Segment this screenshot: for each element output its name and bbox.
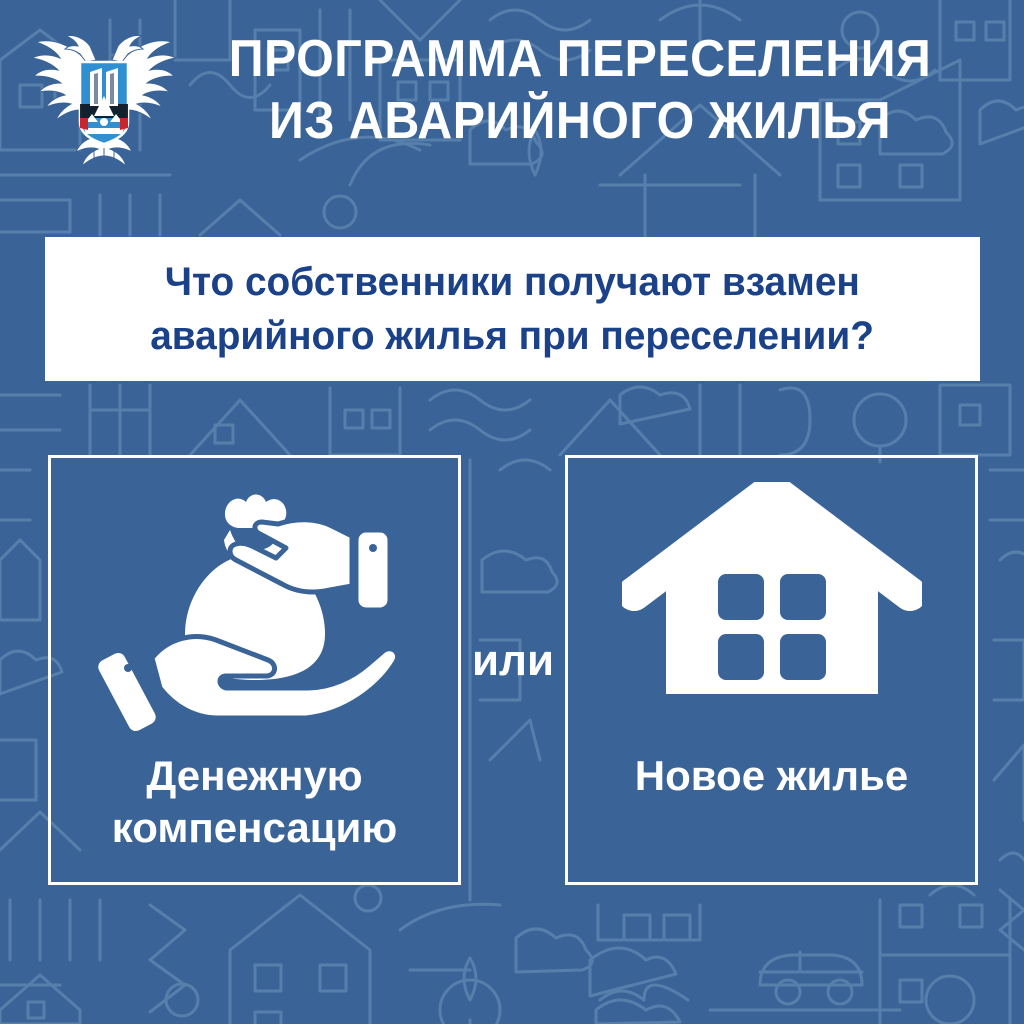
- infographic-poster: ПРОГРАММА ПЕРЕСЕЛЕНИЯ ИЗ АВАРИЙНОГО ЖИЛЬ…: [0, 0, 1024, 1024]
- hands-holding-money-bag-icon: [90, 482, 420, 732]
- option-label-left-line-2: компенсацию: [27, 802, 482, 854]
- question-line-2: аварийного жилья при переселении?: [151, 309, 875, 363]
- question-banner: Что собственники получают взамен аварийн…: [45, 237, 980, 381]
- option-label-left: Денежную компенсацию: [27, 750, 482, 854]
- option-label-left-line-1: Денежную: [27, 750, 482, 802]
- page-title-line-2: ИЗ АВАРИЙНОГО ЖИЛЬЯ: [208, 90, 952, 152]
- option-icon-wrap-right: [568, 472, 975, 742]
- option-card-monetary-compensation[interactable]: Денежную компенсацию: [48, 455, 461, 885]
- option-icon-wrap-left: [51, 472, 458, 742]
- option-label-right-line-1: Новое жилье: [544, 750, 999, 802]
- poster-header: ПРОГРАММА ПЕРЕСЕЛЕНИЯ ИЗ АВАРИЙНОГО ЖИЛЬ…: [0, 0, 1024, 185]
- question-line-1: Что собственники получают взамен: [165, 255, 860, 309]
- donetsk-coat-of-arms-icon: [24, 18, 184, 173]
- house-icon: [622, 482, 922, 732]
- or-separator: или: [461, 636, 565, 686]
- option-label-right: Новое жилье: [544, 750, 999, 802]
- option-card-new-housing[interactable]: Новое жилье: [565, 455, 978, 885]
- page-title: ПРОГРАММА ПЕРЕСЕЛЕНИЯ ИЗ АВАРИЙНОГО ЖИЛЬ…: [208, 28, 952, 152]
- page-title-line-1: ПРОГРАММА ПЕРЕСЕЛЕНИЯ: [208, 28, 952, 90]
